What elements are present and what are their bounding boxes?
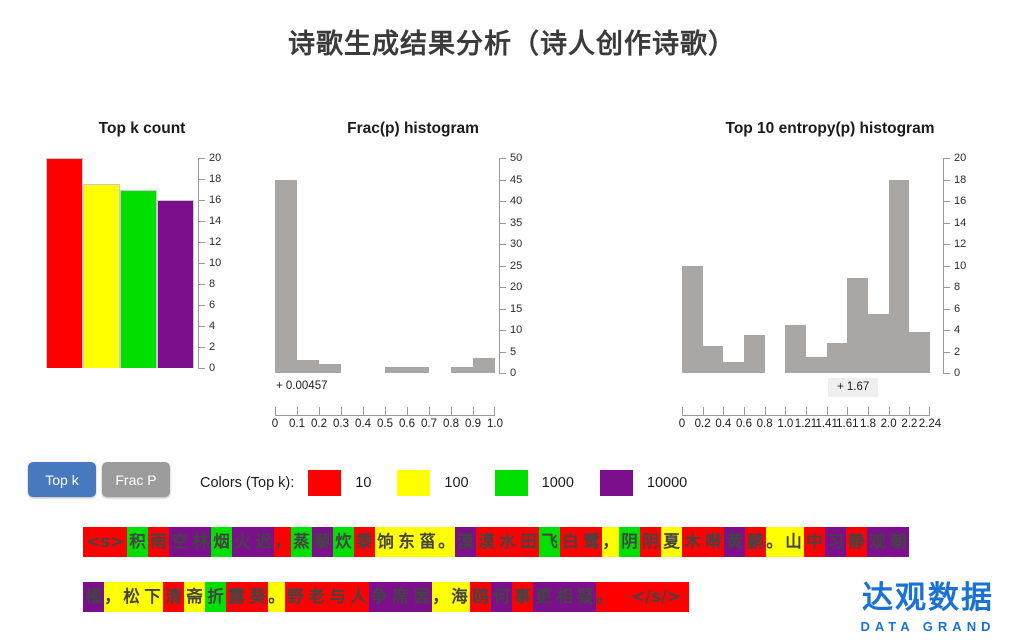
token-cell: 槿 xyxy=(83,582,104,612)
legend-color-swatch xyxy=(308,470,341,496)
x-axis-tick-label: 0.2 xyxy=(311,418,327,430)
chart-title-top-10-entropy-histogram: Top 10 entropy(p) histogram xyxy=(660,120,1000,138)
y-axis-tick xyxy=(943,201,950,202)
y-axis-tick-label: 0 xyxy=(510,367,516,379)
y-axis-tick xyxy=(198,305,205,306)
y-axis-tick xyxy=(198,347,205,348)
y-axis-tick xyxy=(499,201,506,202)
token-cell: 空 xyxy=(169,527,190,557)
x-axis-tick xyxy=(473,407,474,416)
x-axis-tick xyxy=(723,407,724,416)
legend-color-swatch xyxy=(495,470,528,496)
token-cell: 东 xyxy=(396,527,417,557)
x-axis-tick xyxy=(909,407,910,416)
token-cell xyxy=(613,582,623,612)
y-axis-tick-label: 45 xyxy=(510,174,522,186)
token-cell: 何 xyxy=(491,582,512,612)
x-offset-note-frac-p: + 0.00457 xyxy=(276,380,327,392)
token-cell: 折 xyxy=(205,582,226,612)
company-logo: 达观数据 DATA GRAND xyxy=(848,572,1008,634)
bar xyxy=(868,314,889,373)
x-axis-tick-label: 1.0 xyxy=(777,418,793,430)
slide-root: 诗歌生成结果分析（诗人创作诗歌） Top k count 02468101214… xyxy=(0,0,1024,642)
x-axis-tick xyxy=(765,407,766,416)
x-axis-tick-label: 0.2 xyxy=(695,418,711,430)
y-axis-tick-label: 30 xyxy=(510,238,522,250)
token-strip-line-2: 槿，松下清斋折露葵。野老与人争席罢，海鸥何事更相疑。 </s/> xyxy=(83,582,689,612)
y-axis-tick xyxy=(943,244,950,245)
token-cell: ， xyxy=(104,582,121,612)
x-axis-tick xyxy=(868,407,869,416)
x-axis-tick xyxy=(319,407,320,416)
y-axis-tick xyxy=(198,221,205,222)
x-axis-tick-label: 0.4 xyxy=(715,418,731,430)
y-axis-tick-label: 14 xyxy=(209,215,221,227)
y-axis-tick xyxy=(943,158,950,159)
legend-item: 10000 xyxy=(600,470,687,496)
token-cell: 习 xyxy=(825,527,846,557)
legend-item-label: 10 xyxy=(355,475,371,491)
logo-english-text: DATA GRAND xyxy=(848,619,1008,634)
legend-item-label: 100 xyxy=(444,475,468,491)
bar xyxy=(297,360,319,373)
x-axis-tick-label: 0.8 xyxy=(757,418,773,430)
x-axis-tick-label: 2.0 xyxy=(881,418,897,430)
x-axis-tick-label: 1.61 xyxy=(836,418,858,430)
x-axis-tick-label: 0 xyxy=(679,418,685,430)
token-cell: 飞 xyxy=(539,527,560,557)
bar xyxy=(46,158,83,368)
token-cell: 木 xyxy=(682,527,703,557)
token-cell: 罢 xyxy=(411,582,432,612)
x-axis-tick-label: 0.1 xyxy=(289,418,305,430)
token-cell: 疑 xyxy=(575,582,596,612)
chart-title-top-k-count: Top k count xyxy=(22,120,262,138)
bar xyxy=(847,278,868,373)
x-axis-tick-label: 1.21 xyxy=(795,418,817,430)
token-cell: 鹭 xyxy=(581,527,602,557)
x-axis-tick xyxy=(275,407,276,416)
token-cell: 迟 xyxy=(253,527,274,557)
y-axis-tick-label: 12 xyxy=(209,236,221,248)
token-cell: 人 xyxy=(348,582,369,612)
y-axis-tick-label: 5 xyxy=(510,346,516,358)
token-cell: 田 xyxy=(518,527,539,557)
x-axis-tick xyxy=(429,407,430,416)
x-axis-top-10-entropy-histogram: 00.20.40.60.81.01.211.411.611.82.02.22.2… xyxy=(682,407,930,429)
y-axis-tick xyxy=(943,223,950,224)
legend-color-swatch xyxy=(600,470,633,496)
y-axis-tick-label: 10 xyxy=(954,260,966,272)
y-axis-tick xyxy=(943,180,950,181)
legend-item-label: 10000 xyxy=(647,475,687,491)
x-axis-tick xyxy=(494,407,495,416)
token-cell: ， xyxy=(602,527,619,557)
token-cell: 静 xyxy=(846,527,867,557)
x-axis-frac-p-histogram: 00.10.20.30.40.50.60.70.80.91.0 xyxy=(275,407,495,429)
token-cell: 葵 xyxy=(247,582,268,612)
token-cell: 相 xyxy=(554,582,575,612)
token-cell: 争 xyxy=(369,582,390,612)
y-axis-tick xyxy=(499,180,506,181)
frac-p-button[interactable]: Frac P xyxy=(102,462,170,497)
bar xyxy=(703,346,724,373)
x-axis-tick xyxy=(744,407,745,416)
y-axis-tick-label: 40 xyxy=(510,195,522,207)
y-axis-tick-label: 16 xyxy=(954,195,966,207)
chart-panel-top-k-count: Top k count 02468101214161820 xyxy=(22,120,262,385)
bar xyxy=(83,184,120,368)
token-cell: 阴 xyxy=(640,527,661,557)
token-cell: 黍 xyxy=(354,527,375,557)
token-cell: 积 xyxy=(127,527,148,557)
x-axis-tick-label: 2.24 xyxy=(919,418,941,430)
x-axis-tick-label: 0 xyxy=(272,418,278,430)
x-axis-tick xyxy=(785,407,786,416)
token-cell: 观 xyxy=(867,527,888,557)
x-axis-tick-label: 1.41 xyxy=(815,418,837,430)
token-cell: 。 xyxy=(596,582,613,612)
token-cell: ， xyxy=(432,582,449,612)
bar xyxy=(785,325,806,373)
y-axis-tick-label: 35 xyxy=(510,217,522,229)
token-cell: 鸥 xyxy=(470,582,491,612)
bar xyxy=(473,358,495,373)
token-cell: 啭 xyxy=(703,527,724,557)
token-cell: 漠 xyxy=(476,527,497,557)
y-axis-tick-label: 6 xyxy=(209,299,215,311)
token-cell: </s/> xyxy=(623,582,689,612)
top-k-button[interactable]: Top k xyxy=(28,462,96,497)
x-axis-tick xyxy=(363,407,364,416)
y-axis-tick-label: 10 xyxy=(209,257,221,269)
token-cell: 黄 xyxy=(724,527,745,557)
x-axis-tick-label: 0.3 xyxy=(333,418,349,430)
token-cell: 海 xyxy=(449,582,470,612)
x-axis-tick xyxy=(703,407,704,416)
x-axis-tick xyxy=(407,407,408,416)
token-cell: 事 xyxy=(512,582,533,612)
y-axis-tick xyxy=(198,368,205,369)
y-axis-tick xyxy=(943,373,950,374)
y-axis-tick-label: 8 xyxy=(209,278,215,290)
logo-chinese-text: 达观数据 xyxy=(848,572,1008,617)
y-axis-tick xyxy=(943,352,950,353)
x-axis-tick-label: 2.2 xyxy=(901,418,917,430)
legend-item: 1000 xyxy=(495,470,574,496)
token-cell: 漠 xyxy=(455,527,476,557)
token-cell: ， xyxy=(274,527,291,557)
x-axis-tick xyxy=(889,407,890,416)
x-offset-note-entropy: + 1.67 xyxy=(828,378,878,397)
y-axis-tick-label: 2 xyxy=(209,341,215,353)
y-axis-tick xyxy=(198,158,205,159)
token-cell: 饷 xyxy=(375,527,396,557)
bar xyxy=(909,332,930,373)
token-cell: 阴 xyxy=(619,527,640,557)
token-cell: 朝 xyxy=(888,527,909,557)
token-cell: 松 xyxy=(121,582,142,612)
plot-area-frac-p-histogram xyxy=(275,158,495,373)
token-cell: 鹂 xyxy=(745,527,766,557)
y-axis-tick-label: 8 xyxy=(954,281,960,293)
bar xyxy=(157,200,194,368)
token-cell: 。 xyxy=(438,527,455,557)
y-axis-tick-label: 50 xyxy=(510,152,522,164)
token-cell: 雨 xyxy=(148,527,169,557)
x-axis-tick xyxy=(929,407,930,416)
y-axis-tick-label: 14 xyxy=(954,217,966,229)
token-cell: 林 xyxy=(190,527,211,557)
y-axis-tick xyxy=(499,330,506,331)
color-legend: Colors (Top k): 10100100010000 xyxy=(200,470,713,496)
bar xyxy=(385,367,407,373)
x-axis-tick xyxy=(806,407,807,416)
token-cell: 斋 xyxy=(184,582,205,612)
token-cell: 。 xyxy=(766,527,783,557)
y-axis-tick xyxy=(198,200,205,201)
chart-panel-top-10-entropy-histogram: Top 10 entropy(p) histogram 024681012141… xyxy=(660,120,1000,440)
y-axis-tick-label: 10 xyxy=(510,324,522,336)
token-cell: 席 xyxy=(390,582,411,612)
bar xyxy=(407,367,429,373)
y-axis-tick xyxy=(943,330,950,331)
token-cell: 清 xyxy=(163,582,184,612)
y-axis-tick xyxy=(198,326,205,327)
token-cell: 蒸 xyxy=(291,527,312,557)
token-cell: 白 xyxy=(560,527,581,557)
bar xyxy=(319,364,341,373)
y-axis-tick xyxy=(943,287,950,288)
bar xyxy=(120,190,157,369)
x-axis-tick-label: 0.6 xyxy=(399,418,415,430)
x-axis-tick xyxy=(451,407,452,416)
x-axis-tick-label: 0.7 xyxy=(421,418,437,430)
x-axis-tick xyxy=(682,407,683,416)
x-axis-tick xyxy=(385,407,386,416)
bar xyxy=(682,266,703,374)
bar-series-top-10-entropy-histogram xyxy=(682,158,930,373)
x-axis-tick-label: 0.9 xyxy=(465,418,481,430)
y-axis-tick xyxy=(499,244,506,245)
legend-title: Colors (Top k): xyxy=(200,475,294,491)
bar xyxy=(723,362,744,373)
plot-area-top-10-entropy-histogram xyxy=(682,158,930,373)
legend-color-swatch xyxy=(397,470,430,496)
y-axis-tick-label: 20 xyxy=(510,281,522,293)
y-axis-tick-label: 25 xyxy=(510,260,522,272)
x-axis-tick xyxy=(847,407,848,416)
token-strip-line-1: <s>积雨空林烟火迟，蒸藜炊黍饷东菑。漠漠水田飞白鹭，阴阴夏木啭黄鹂。山中习静观… xyxy=(83,527,909,557)
chart-panel-frac-p-histogram: Frac(p) histogram 05101520253035404550 +… xyxy=(268,120,558,440)
bar-series-top-k-count xyxy=(46,158,194,368)
token-cell: 炊 xyxy=(333,527,354,557)
token-cell: 下 xyxy=(142,582,163,612)
y-axis-tick-label: 15 xyxy=(510,303,522,315)
legend-item: 100 xyxy=(397,470,468,496)
bar-series-frac-p-histogram xyxy=(275,158,495,373)
bar xyxy=(275,180,297,374)
token-cell: <s> xyxy=(83,527,127,557)
y-axis-tick-label: 0 xyxy=(954,367,960,379)
bar xyxy=(889,180,910,374)
y-axis-tick xyxy=(499,158,506,159)
x-axis-tick-label: 0.5 xyxy=(377,418,393,430)
x-axis-tick xyxy=(297,407,298,416)
y-axis-tick-label: 16 xyxy=(209,194,221,206)
y-axis-tick xyxy=(198,284,205,285)
y-axis-tick-label: 4 xyxy=(954,324,960,336)
x-axis-tick xyxy=(341,407,342,416)
token-cell: 中 xyxy=(804,527,825,557)
token-cell: 与 xyxy=(327,582,348,612)
token-cell: 烟 xyxy=(211,527,232,557)
x-axis-tick xyxy=(827,407,828,416)
token-cell: 野 xyxy=(285,582,306,612)
token-cell: 老 xyxy=(306,582,327,612)
bar xyxy=(451,367,473,373)
y-axis-tick-label: 20 xyxy=(954,152,966,164)
y-axis-tick-label: 18 xyxy=(209,173,221,185)
page-title: 诗歌生成结果分析（诗人创作诗歌） xyxy=(0,22,1024,61)
y-axis-tick xyxy=(943,309,950,310)
y-axis-tick-label: 18 xyxy=(954,174,966,186)
bar xyxy=(806,357,827,373)
y-axis-tick-label: 0 xyxy=(209,362,215,374)
token-cell: 露 xyxy=(226,582,247,612)
token-cell: 山 xyxy=(783,527,804,557)
y-axis-tick xyxy=(198,263,205,264)
token-cell: 藜 xyxy=(312,527,333,557)
y-axis-tick xyxy=(198,179,205,180)
y-axis-tick xyxy=(499,309,506,310)
y-axis-tick-label: 4 xyxy=(209,320,215,332)
token-cell: 夏 xyxy=(661,527,682,557)
y-axis-tick-label: 12 xyxy=(954,238,966,250)
y-axis-tick xyxy=(499,352,506,353)
y-axis-tick xyxy=(499,223,506,224)
x-axis-tick-label: 1.8 xyxy=(860,418,876,430)
y-axis-tick xyxy=(499,373,506,374)
x-axis-tick-label: 0.4 xyxy=(355,418,371,430)
y-axis-tick xyxy=(499,266,506,267)
bar xyxy=(827,343,848,373)
y-axis-tick-label: 6 xyxy=(954,303,960,315)
plot-area-top-k-count xyxy=(46,158,194,368)
legend-item: 10 xyxy=(308,470,371,496)
token-cell: 水 xyxy=(497,527,518,557)
y-axis-tick xyxy=(943,266,950,267)
token-cell: 。 xyxy=(268,582,285,612)
y-axis-tick-label: 20 xyxy=(209,152,221,164)
legend-item-label: 1000 xyxy=(542,475,574,491)
y-axis-tick xyxy=(198,242,205,243)
token-cell: 菑 xyxy=(417,527,438,557)
x-axis-tick-label: 0.8 xyxy=(443,418,459,430)
y-axis-tick xyxy=(499,287,506,288)
x-axis-tick-label: 1.0 xyxy=(487,418,503,430)
chart-title-frac-p-histogram: Frac(p) histogram xyxy=(268,120,558,138)
y-axis-tick-label: 2 xyxy=(954,346,960,358)
bar xyxy=(744,335,765,373)
token-cell: 更 xyxy=(533,582,554,612)
token-cell: 火 xyxy=(232,527,253,557)
x-axis-tick-label: 0.6 xyxy=(736,418,752,430)
